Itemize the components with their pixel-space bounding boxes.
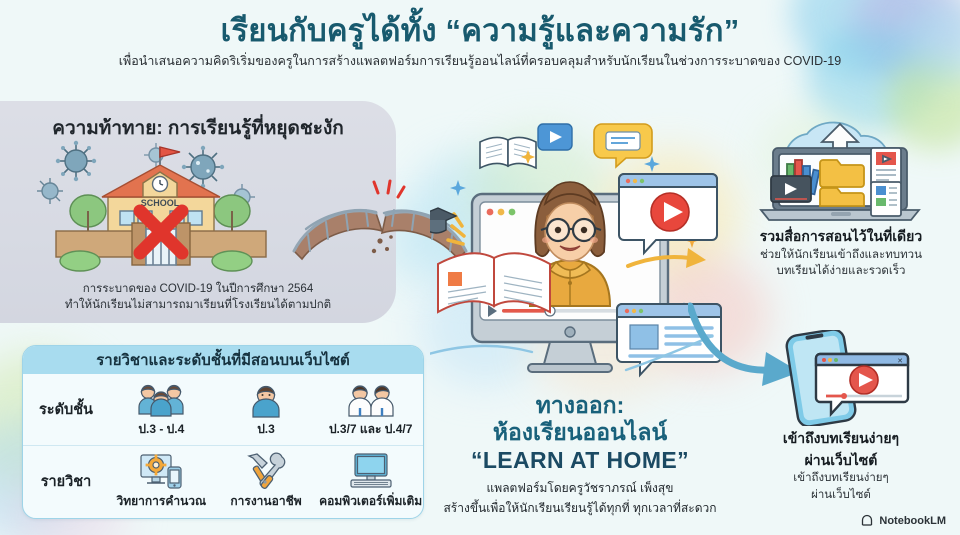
desktop-computer-icon	[348, 452, 394, 490]
laptop-cloud-media-icon	[726, 120, 956, 224]
challenge-caption: การระบาดของ COVID-19 ในปีการศึกษา 2564 ท…	[0, 281, 396, 314]
window-dots-icon	[822, 358, 838, 362]
hammer-wrench-icon	[244, 452, 288, 490]
hero-text-block: ทางออก: ห้องเรียนออนไลน์ “LEARN AT HOME”…	[400, 392, 760, 518]
document-icon	[871, 148, 901, 186]
arrow-head-icon	[686, 248, 706, 268]
feature-all-in-one: รวมสื่อการสอนไว้ในที่เดียว ช่วยให้นักเรี…	[726, 120, 956, 279]
subjects-and-grades-card: รายวิชาและระดับชั้นที่มีสอนบนเว็บไซต์ ระ…	[22, 345, 424, 519]
row-label-subjects: รายวิชา	[23, 470, 109, 493]
feature-desc-line1: เข้าถึงบทเรียนง่ายๆ	[726, 471, 956, 486]
chat-bubble-icon	[594, 124, 652, 167]
notebooklm-logo-icon	[861, 514, 874, 527]
subject-cell: วิทยาการคำนวณ	[109, 452, 214, 511]
feature-desc-line1: ช่วยให้นักเรียนเข้าถึงและทบทวน	[726, 248, 956, 263]
student-single-icon	[246, 380, 286, 418]
page-subtitle: เพื่อนำเสนอความคิดริเริ่มของครูในการสร้า…	[0, 54, 960, 69]
smartphone-video-icon: ✕	[726, 330, 956, 426]
students-pair-icon	[345, 380, 397, 418]
row-label-grades: ระดับชั้น	[23, 398, 109, 421]
challenge-caption-line1: การระบาดของ COVID-19 ในปีการศึกษา 2564	[0, 281, 396, 298]
page-title: เรียนกับครูได้ทั้ง “ความรู้และความรัก”	[0, 0, 960, 48]
virus-icon	[37, 178, 63, 204]
video-play-badge-icon	[538, 124, 572, 150]
hero-heading-line2: ห้องเรียนออนไลน์	[400, 419, 760, 446]
subject-caption: วิทยาการคำนวณ	[116, 492, 206, 511]
feature-desc-line2: ผ่านเว็บไซต์	[726, 488, 956, 503]
feature-title: รวมสื่อการสอนไว้ในที่เดียว	[726, 228, 956, 246]
online-classroom-illustration	[430, 120, 730, 400]
feature-title-line1: เข้าถึงบทเรียนง่ายๆ	[726, 430, 956, 448]
school-sign-label: SCHOOL	[141, 198, 180, 208]
table-row: ระดับชั้น	[23, 374, 423, 445]
notebooklm-watermark: NotebookLM	[861, 514, 946, 527]
subjects-card-header-label: รายวิชาและระดับชั้นที่มีสอนบนเว็บไซต์	[96, 348, 350, 372]
computing-science-icon	[138, 452, 184, 490]
tree-icon	[214, 195, 250, 231]
hero-sub-line1: แพลตฟอร์มโดยครูวัชราภรณ์ เพ็งสุข	[400, 479, 760, 498]
infographic-canvas: เรียนกับครูได้ทั้ง “ความรู้และความรัก” เ…	[0, 0, 960, 535]
window-dots-icon	[626, 179, 644, 183]
subject-cell: การงานอาชีพ	[214, 452, 319, 511]
subjects-card-header: รายวิชาและระดับชั้นที่มีสอนบนเว็บไซต์	[23, 346, 423, 374]
open-book-illustration	[438, 253, 550, 312]
grade-caption: ป.3	[257, 420, 275, 439]
watermark-label: NotebookLM	[879, 515, 946, 527]
virus-icon	[56, 141, 96, 181]
tree-icon	[70, 195, 106, 231]
feature-desc-line2: บทเรียนได้ง่ายและรวดเร็ว	[726, 264, 956, 279]
document-icon	[871, 182, 901, 216]
window-dots-icon	[625, 309, 643, 313]
table-row: รายวิชา	[23, 445, 423, 517]
hero-sub-line2: สร้างขึ้นเพื่อให้นักเรียนเรียนรู้ได้ทุกท…	[400, 499, 760, 518]
challenge-caption-line2: ทำให้นักเรียนไม่สามารถมาเรียนที่โรงเรียน…	[0, 297, 396, 314]
challenge-title: ความท้าทาย: การเรียนรู้ที่หยุดชะงัก	[0, 101, 396, 143]
students-group-icon	[136, 380, 186, 418]
grade-cell: ป.3	[214, 380, 319, 439]
window-dots-icon	[487, 209, 516, 216]
grade-cell: ป.3 - ป.4	[109, 380, 214, 439]
closed-school-illustration: SCHOOL	[36, 139, 286, 279]
video-thumbnail-icon	[771, 176, 811, 202]
header: เรียนกับครูได้ทั้ง “ความรู้และความรัก” เ…	[0, 0, 960, 96]
graduation-cap-icon	[430, 208, 456, 233]
hero-heading-line1: ทางออก:	[400, 392, 760, 419]
subject-caption: การงานอาชีพ	[230, 492, 301, 511]
feature-easy-access: ✕ เข้าถึงบทเรียนง่ายๆ ผ่านเว็บไซต์ เข้าถ…	[726, 330, 956, 503]
hero-heading-line3: “LEARN AT HOME”	[400, 447, 760, 474]
feature-title-line2: ผ่านเว็บไซต์	[726, 452, 956, 470]
svg-text:✕: ✕	[897, 358, 903, 365]
grade-caption: ป.3 - ป.4	[138, 420, 184, 439]
challenge-panel: ความท้าทาย: การเรียนรู้ที่หยุดชะงัก	[0, 101, 396, 323]
